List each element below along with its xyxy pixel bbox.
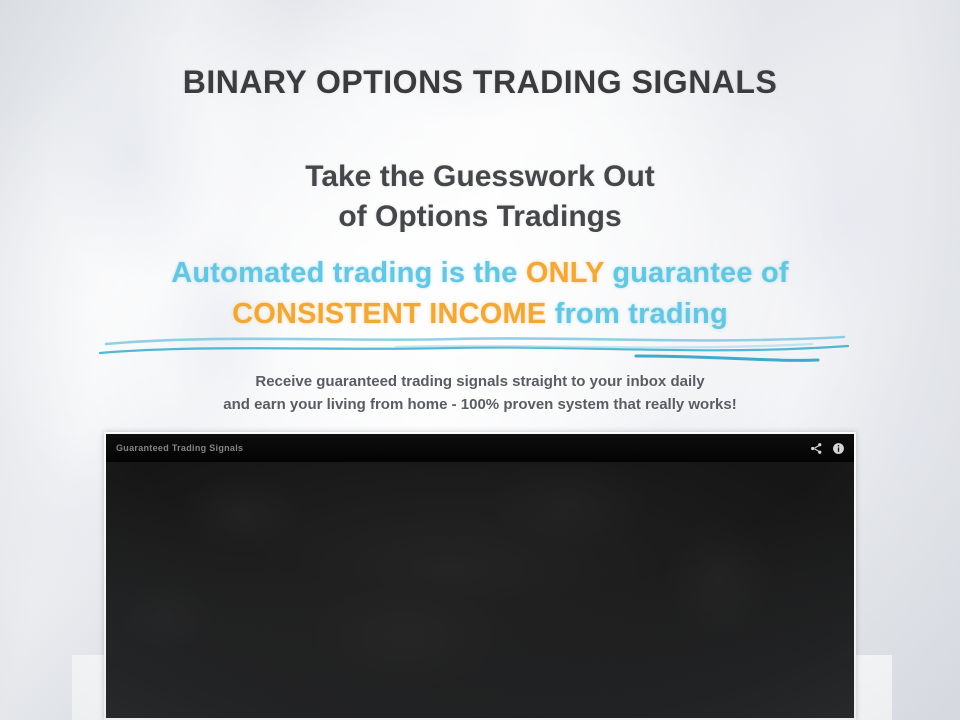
page-title: BINARY OPTIONS TRADING SIGNALS [0, 64, 960, 101]
promo-page: BINARY OPTIONS TRADING SIGNALS Take the … [0, 0, 960, 720]
player-actions [810, 442, 845, 455]
promo-highlight-consistent-income: CONSISTENT INCOME [232, 298, 546, 330]
promo-line-1-text-b: guarantee of [604, 257, 789, 289]
promo-highlight-only: ONLY [526, 257, 604, 289]
player-title: Guaranteed Trading Signals [116, 443, 243, 453]
sub-title-line-1: Take the Guesswork Out [0, 157, 960, 197]
video-player[interactable]: Guaranteed Trading Signals [104, 432, 856, 720]
share-icon[interactable] [810, 442, 823, 455]
info-icon[interactable] [832, 442, 845, 455]
sub-title-line-2: of Options Tradings [0, 197, 960, 237]
promo-line-2-text-b: from trading [546, 298, 727, 330]
promo-line-1: Automated trading is the ONLY guarantee … [0, 253, 960, 294]
promo-line-2: CONSISTENT INCOME from trading [0, 294, 960, 335]
promo-line-1-text-a: Automated trading is the [171, 257, 526, 289]
sub-title: Take the Guesswork Out of Options Tradin… [0, 157, 960, 237]
body-copy-line-2: and earn your living from home - 100% pr… [0, 393, 960, 416]
video-noise-overlay [106, 462, 854, 718]
body-copy-line-1: Receive guaranteed trading signals strai… [0, 370, 960, 393]
video-stage[interactable] [106, 462, 854, 718]
promo-headline: Automated trading is the ONLY guarantee … [0, 253, 960, 335]
body-copy: Receive guaranteed trading signals strai… [0, 370, 960, 416]
player-titlebar: Guaranteed Trading Signals [106, 434, 854, 462]
